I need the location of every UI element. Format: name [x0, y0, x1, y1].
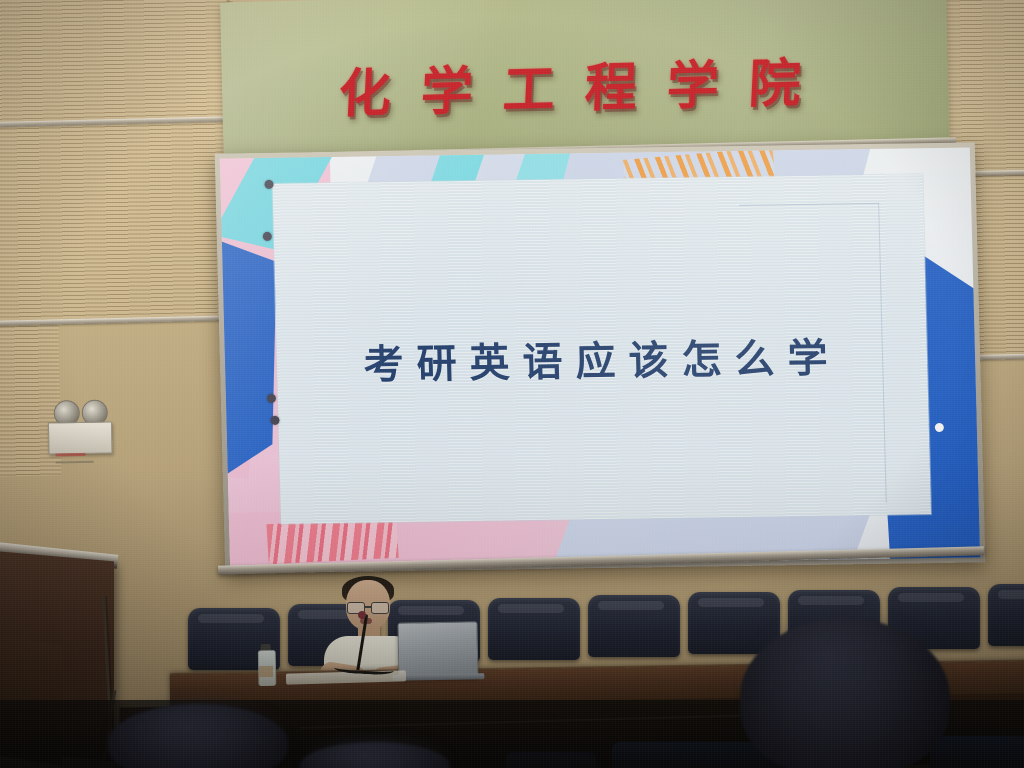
acoustic-panel-left-upper [0, 0, 236, 125]
lecture-hall-photo: 化学工程学院 考研英语应该怎么学 [0, 0, 1024, 768]
slide-dot-2 [263, 232, 272, 241]
emergency-light-fixture [48, 399, 115, 452]
laptop-hinge [392, 673, 484, 681]
audience-head-silhouette [300, 742, 450, 768]
water-bottle [258, 644, 275, 684]
audience-head-silhouette [740, 618, 950, 768]
projection-screen-frame: 考研英语应该怎么学 [215, 142, 986, 573]
slide-shape-salmon-brush [266, 518, 398, 564]
stage-chair [488, 598, 580, 660]
emergency-light-label-red [55, 453, 85, 457]
audience-head-silhouette [108, 704, 288, 768]
slide-dot-3 [267, 394, 276, 403]
slide-dot-white [935, 423, 944, 432]
slide-card-corner-line-h [739, 203, 879, 206]
laptop [397, 621, 480, 682]
slide-dot-1 [264, 180, 273, 189]
laptop-screen [397, 621, 478, 678]
stage-chair [988, 584, 1024, 646]
glasses-icon [346, 602, 390, 612]
stage-chair [588, 595, 680, 657]
projection-screen: 考研英语应该怎么学 [220, 148, 980, 569]
slide-dot-4 [270, 416, 279, 425]
bottle-label [259, 666, 273, 677]
acoustic-panel-left-middle [0, 119, 242, 325]
slide-title: 考研英语应该怎么学 [276, 324, 927, 392]
emergency-light-body [48, 421, 113, 454]
microphone-icon [358, 611, 366, 619]
slide-content-card: 考研英语应该怎么学 [272, 174, 931, 524]
